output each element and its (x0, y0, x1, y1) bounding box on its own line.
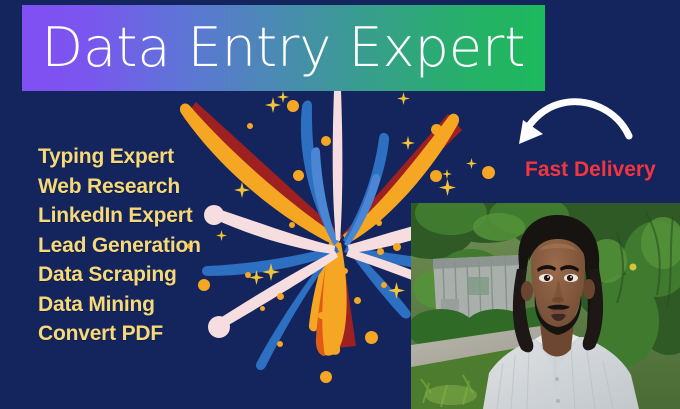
confetti-dot (342, 268, 348, 274)
service-list-item: Data Scraping (38, 260, 201, 290)
confetti-dot (321, 136, 331, 146)
confetti-dot (354, 297, 361, 304)
sparkle-star-icon (388, 282, 405, 304)
sparkle-star-icon (277, 90, 289, 108)
gig-thumbnail-poster: Data Entry Expert Typing Expert Web Rese… (0, 0, 680, 409)
service-list-item: Typing Expert (38, 142, 201, 172)
poster-title-banner: Data Entry Expert (22, 5, 545, 91)
sparkle-star-icon (234, 182, 250, 203)
freelancer-portrait-photo (411, 203, 680, 409)
confetti-dot (393, 243, 401, 251)
page-title: Data Entry Expert (42, 20, 526, 76)
service-list: Typing Expert Web Research LinkedIn Expe… (38, 142, 201, 349)
confetti-dot (381, 282, 387, 288)
sparkle-star-icon (262, 263, 280, 286)
confetti-dot (260, 306, 265, 311)
confetti-dot (247, 123, 253, 129)
confetti-dot (376, 220, 382, 226)
service-list-item: LinkedIn Expert (38, 201, 201, 231)
confetti-dot (277, 293, 284, 300)
sparkle-star-icon (216, 228, 227, 246)
curved-arrow-down-left-icon (505, 92, 635, 154)
sparkle-star-icon (466, 156, 477, 174)
confetti-dot (293, 170, 304, 181)
fast-delivery-badge: Fast Delivery (525, 158, 656, 182)
sparkle-star-icon (442, 166, 452, 184)
service-list-item: Web Research (38, 172, 201, 202)
confetti-dot (318, 312, 325, 319)
sparkle-star-icon (397, 92, 410, 110)
confetti-dot (277, 341, 283, 347)
service-list-item: Lead Generation (38, 231, 201, 261)
sparkle-star-icon (401, 136, 415, 155)
confetti-dot (377, 248, 384, 255)
confetti-dot (289, 222, 295, 228)
confetti-dot (365, 331, 378, 344)
confetti-dot (320, 371, 332, 383)
confetti-dot (482, 166, 495, 179)
confetti-dot (431, 124, 442, 135)
service-list-item: Data Mining (38, 290, 201, 320)
service-list-item: Convert PDF (38, 319, 201, 349)
